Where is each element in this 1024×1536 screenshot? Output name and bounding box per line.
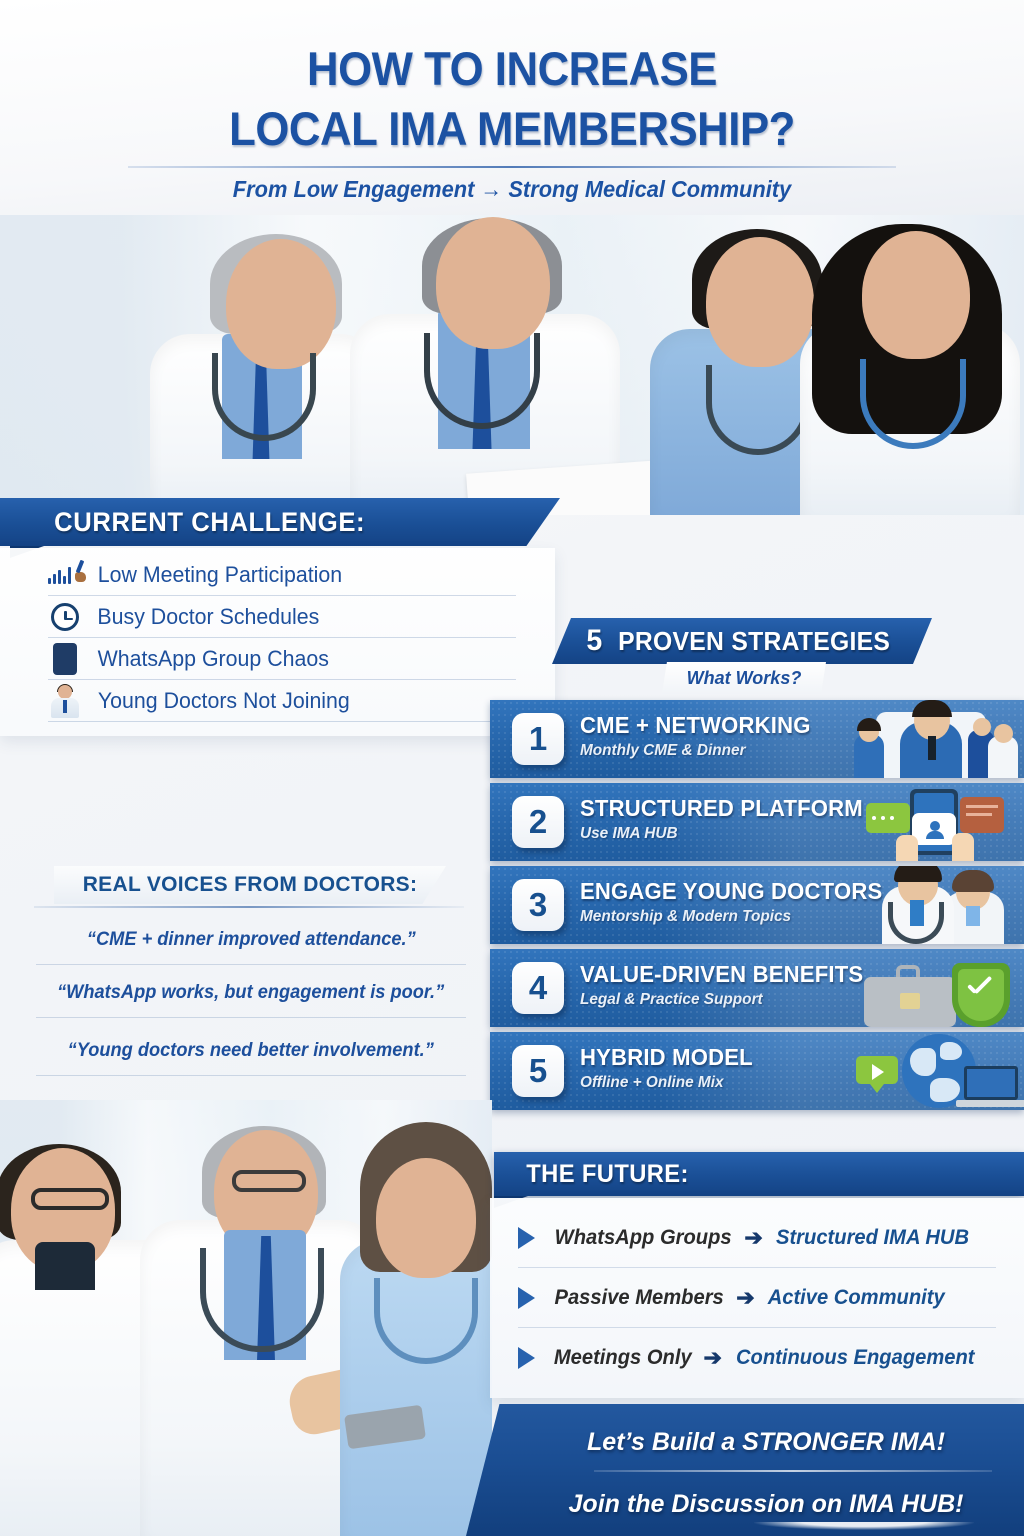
briefcase-shield-check-icon bbox=[848, 949, 1018, 1027]
cta-line-1-plain: Let’s Build a bbox=[587, 1428, 742, 1456]
title-block: HOW TO INCREASE LOCAL IMA MEMBERSHIP? Fr… bbox=[0, 0, 1024, 215]
strategy-subtitle: Use IMA HUB bbox=[580, 825, 863, 843]
strategies-banner: 5 PROVEN STRATEGIES bbox=[552, 618, 932, 664]
future-from-label: Meetings Only bbox=[554, 1346, 692, 1370]
future-from-label: WhatsApp Groups bbox=[555, 1226, 732, 1250]
challenge-item-young-doctors[interactable]: Young Doctors Not Joining bbox=[48, 680, 516, 722]
arrow-right-icon: ➔ bbox=[704, 1345, 722, 1371]
strategy-number-badge: 2 bbox=[512, 796, 564, 848]
strategy-row-4[interactable]: 4 VALUE-DRIVEN BENEFITS Legal & Practice… bbox=[490, 949, 1024, 1027]
challenge-item-label: WhatsApp Group Chaos bbox=[98, 646, 329, 672]
page-subtitle: From Low Engagement → Strong Medical Com… bbox=[26, 176, 999, 203]
challenge-item-label: Low Meeting Participation bbox=[98, 562, 342, 588]
strategy-subtitle: Legal & Practice Support bbox=[580, 991, 863, 1009]
page-title-line-2: LOCAL IMA MEMBERSHIP? bbox=[36, 96, 988, 156]
future-from-label: Passive Members bbox=[555, 1286, 724, 1310]
strategy-row-3[interactable]: 3 ENGAGE YOUNG DOCTORS Mentorship & Mode… bbox=[490, 866, 1024, 944]
voice-quote-text: “WhatsApp works, but engagement is poor.… bbox=[57, 982, 444, 1004]
current-challenge-banner: CURRENT CHALLENGE: bbox=[0, 498, 560, 546]
cta-line-2: Join the Discussion on IMA HUB! bbox=[466, 1490, 1024, 1519]
the-future-banner: THE FUTURE: bbox=[494, 1152, 1024, 1196]
strategy-title: CME + NETWORKING bbox=[580, 712, 811, 739]
cta-underline-swoosh bbox=[754, 1522, 974, 1530]
triangle-bullet-icon bbox=[518, 1287, 535, 1309]
voice-quote-text: “Young doctors need better involvement.” bbox=[68, 1040, 434, 1062]
mobile-phone-icon bbox=[48, 642, 82, 676]
voice-quote-3: “Young doctors need better involvement.” bbox=[36, 1026, 466, 1076]
strategy-title: STRUCTURED PLATFORM bbox=[580, 795, 863, 822]
two-doctors-icon bbox=[848, 866, 1018, 944]
strategy-number-badge: 4 bbox=[512, 962, 564, 1014]
strategy-title: VALUE-DRIVEN BENEFITS bbox=[580, 961, 863, 988]
cta-line-2-plain: Join the Discussion on bbox=[569, 1490, 850, 1518]
the-future-card: WhatsApp Groups ➔ Structured IMA HUB Pas… bbox=[490, 1198, 1024, 1398]
current-challenge-card: Low Meeting Participation Busy Doctor Sc… bbox=[0, 548, 555, 736]
young-doctor-icon bbox=[48, 684, 82, 718]
challenge-item-low-participation[interactable]: Low Meeting Participation bbox=[48, 554, 516, 596]
future-to-label: Continuous Engagement bbox=[736, 1346, 975, 1370]
voice-quote-1: “CME + dinner improved attendance.” bbox=[36, 915, 466, 965]
strategies-heading: PROVEN STRATEGIES bbox=[618, 626, 890, 657]
call-to-action-band: Let’s Build a STRONGER IMA! Join the Dis… bbox=[466, 1404, 1024, 1536]
real-voices-divider bbox=[34, 906, 464, 908]
strategy-row-1[interactable]: 1 CME + NETWORKING Monthly CME & Dinner bbox=[490, 700, 1024, 778]
arrow-right-icon: → bbox=[480, 176, 502, 202]
bar-chart-hand-icon bbox=[48, 558, 82, 592]
subtitle-from: From Low Engagement bbox=[233, 176, 475, 202]
strategy-number-badge: 5 bbox=[512, 1045, 564, 1097]
cta-divider bbox=[594, 1470, 992, 1472]
future-to-label: Active Community bbox=[767, 1286, 944, 1310]
hero-doctor-1 bbox=[150, 219, 380, 515]
triangle-bullet-icon bbox=[518, 1347, 535, 1369]
challenge-item-busy-schedules[interactable]: Busy Doctor Schedules bbox=[48, 596, 516, 638]
challenge-item-label: Busy Doctor Schedules bbox=[97, 604, 319, 630]
strategy-row-5[interactable]: 5 HYBRID MODEL Offline + Online Mix bbox=[490, 1032, 1024, 1110]
strategy-subtitle: Offline + Online Mix bbox=[580, 1074, 753, 1092]
clock-icon bbox=[48, 600, 82, 634]
strategy-title: ENGAGE YOUNG DOCTORS bbox=[580, 878, 882, 905]
current-challenge-heading: CURRENT CHALLENGE: bbox=[54, 507, 365, 538]
bottom-doctor-3 bbox=[340, 1104, 492, 1536]
infographic-page: HOW TO INCREASE LOCAL IMA MEMBERSHIP? Fr… bbox=[0, 0, 1024, 1536]
voice-quote-2: “WhatsApp works, but engagement is poor.… bbox=[36, 968, 466, 1018]
hero-doctor-4 bbox=[800, 219, 1024, 515]
cta-line-1-strong: STRONGER IMA! bbox=[742, 1428, 945, 1456]
triangle-bullet-icon bbox=[518, 1227, 535, 1249]
future-row-2[interactable]: Passive Members ➔ Active Community bbox=[518, 1268, 996, 1328]
strategies-subheading: What Works? bbox=[662, 662, 826, 694]
page-title-line-1: HOW TO INCREASE bbox=[36, 0, 988, 96]
strategy-subtitle: Monthly CME & Dinner bbox=[580, 742, 811, 760]
arrow-right-icon: ➔ bbox=[744, 1225, 762, 1251]
strategy-number-badge: 3 bbox=[512, 879, 564, 931]
globe-laptop-play-icon bbox=[848, 1032, 1018, 1110]
cta-line-1: Let’s Build a STRONGER IMA! bbox=[466, 1428, 1024, 1457]
title-divider bbox=[128, 166, 896, 168]
the-future-heading: THE FUTURE: bbox=[526, 1160, 689, 1189]
strategy-row-2[interactable]: 2 STRUCTURED PLATFORM Use IMA HUB bbox=[490, 783, 1024, 861]
strategy-title: HYBRID MODEL bbox=[580, 1044, 753, 1071]
arrow-right-icon: ➔ bbox=[736, 1285, 754, 1311]
strategy-subtitle: Mentorship & Modern Topics bbox=[580, 908, 882, 926]
voice-quote-text: “CME + dinner improved attendance.” bbox=[87, 929, 416, 951]
group-of-doctors-icon bbox=[848, 700, 1018, 778]
future-to-label: Structured IMA HUB bbox=[776, 1226, 969, 1250]
future-row-3[interactable]: Meetings Only ➔ Continuous Engagement bbox=[518, 1328, 996, 1388]
smartphone-chat-icon bbox=[848, 783, 1018, 861]
real-voices-banner: REAL VOICES FROM DOCTORS: bbox=[54, 866, 446, 904]
strategies-count: 5 bbox=[587, 624, 603, 658]
cta-line-2-strong: IMA HUB! bbox=[849, 1490, 963, 1518]
hero-photo bbox=[0, 215, 1024, 515]
subtitle-to: Strong Medical Community bbox=[508, 176, 791, 202]
future-row-1[interactable]: WhatsApp Groups ➔ Structured IMA HUB bbox=[518, 1208, 996, 1268]
challenge-item-label: Young Doctors Not Joining bbox=[98, 688, 350, 714]
challenge-item-whatsapp-chaos[interactable]: WhatsApp Group Chaos bbox=[48, 638, 516, 680]
hero-doctor-2 bbox=[350, 219, 620, 515]
strategy-number-badge: 1 bbox=[512, 713, 564, 765]
bottom-photo bbox=[0, 1100, 492, 1536]
